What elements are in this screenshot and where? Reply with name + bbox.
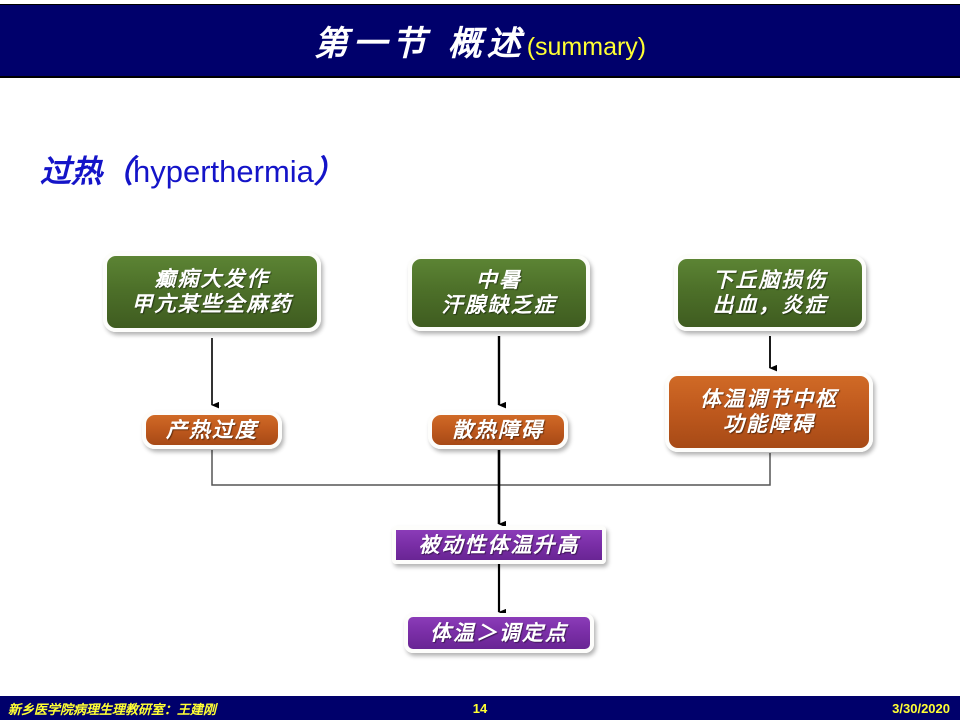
diagram-connectors: [0, 0, 960, 720]
connector-mech3-to-bus: [499, 453, 770, 485]
cause-box-hypothalamus-line2: 出血，炎症: [713, 293, 828, 318]
mechanism-box-thermoregulation-line2: 功能障碍: [723, 412, 815, 437]
outcome-box-above-setpoint-line1: 体温＞调定点: [430, 621, 568, 646]
cause-box-seizure[interactable]: 癫痫大发作 甲亢某些全麻药: [103, 252, 321, 332]
header-title: 第一节 概述(summary): [314, 16, 646, 65]
cause-box-seizure-line1: 癫痫大发作: [155, 267, 270, 292]
footer-date: 3/30/2020: [892, 701, 950, 716]
subtitle-chinese-close: ）: [314, 154, 345, 190]
connector-mech1-to-bus: [212, 450, 499, 485]
page-subtitle: 过热（hyperthermia）: [40, 146, 345, 191]
mechanism-box-heat-production-line1: 产热过度: [166, 418, 258, 443]
footer-bar: 新乡医学院病理生理教研室：王建刚 14 3/30/2020: [0, 696, 960, 720]
header-title-chinese: 第一节 概述: [314, 16, 526, 65]
cause-box-hypothalamus[interactable]: 下丘脑损伤 出血，炎症: [674, 255, 866, 331]
cause-box-heatstroke-line1: 中暑: [476, 268, 522, 293]
subtitle-english: hyperthermia: [133, 154, 314, 189]
mechanism-box-thermoregulation[interactable]: 体温调节中枢 功能障碍: [665, 372, 873, 452]
cause-box-hypothalamus-line1: 下丘脑损伤: [713, 268, 828, 293]
outcome-box-above-setpoint[interactable]: 体温＞调定点: [404, 613, 594, 653]
cause-box-seizure-line2: 甲亢某些全麻药: [132, 292, 293, 317]
mechanism-box-heat-dissipation-line1: 散热障碍: [452, 418, 544, 443]
outcome-box-passive-temperature-rise[interactable]: 被动性体温升高: [392, 526, 606, 564]
mechanism-box-heat-dissipation[interactable]: 散热障碍: [428, 411, 568, 449]
header-banner: 第一节 概述(summary): [0, 4, 960, 78]
mechanism-box-thermoregulation-line1: 体温调节中枢: [700, 387, 838, 412]
subtitle-chinese: 过热（: [40, 154, 133, 190]
mechanism-box-heat-production[interactable]: 产热过度: [142, 411, 282, 449]
cause-box-heatstroke[interactable]: 中暑 汗腺缺乏症: [408, 255, 590, 331]
header-title-english: (summary): [527, 33, 646, 62]
footer-page-number: 14: [0, 701, 960, 716]
cause-box-heatstroke-line2: 汗腺缺乏症: [442, 293, 557, 318]
outcome-box-passive-temperature-rise-line1: 被动性体温升高: [419, 533, 580, 558]
